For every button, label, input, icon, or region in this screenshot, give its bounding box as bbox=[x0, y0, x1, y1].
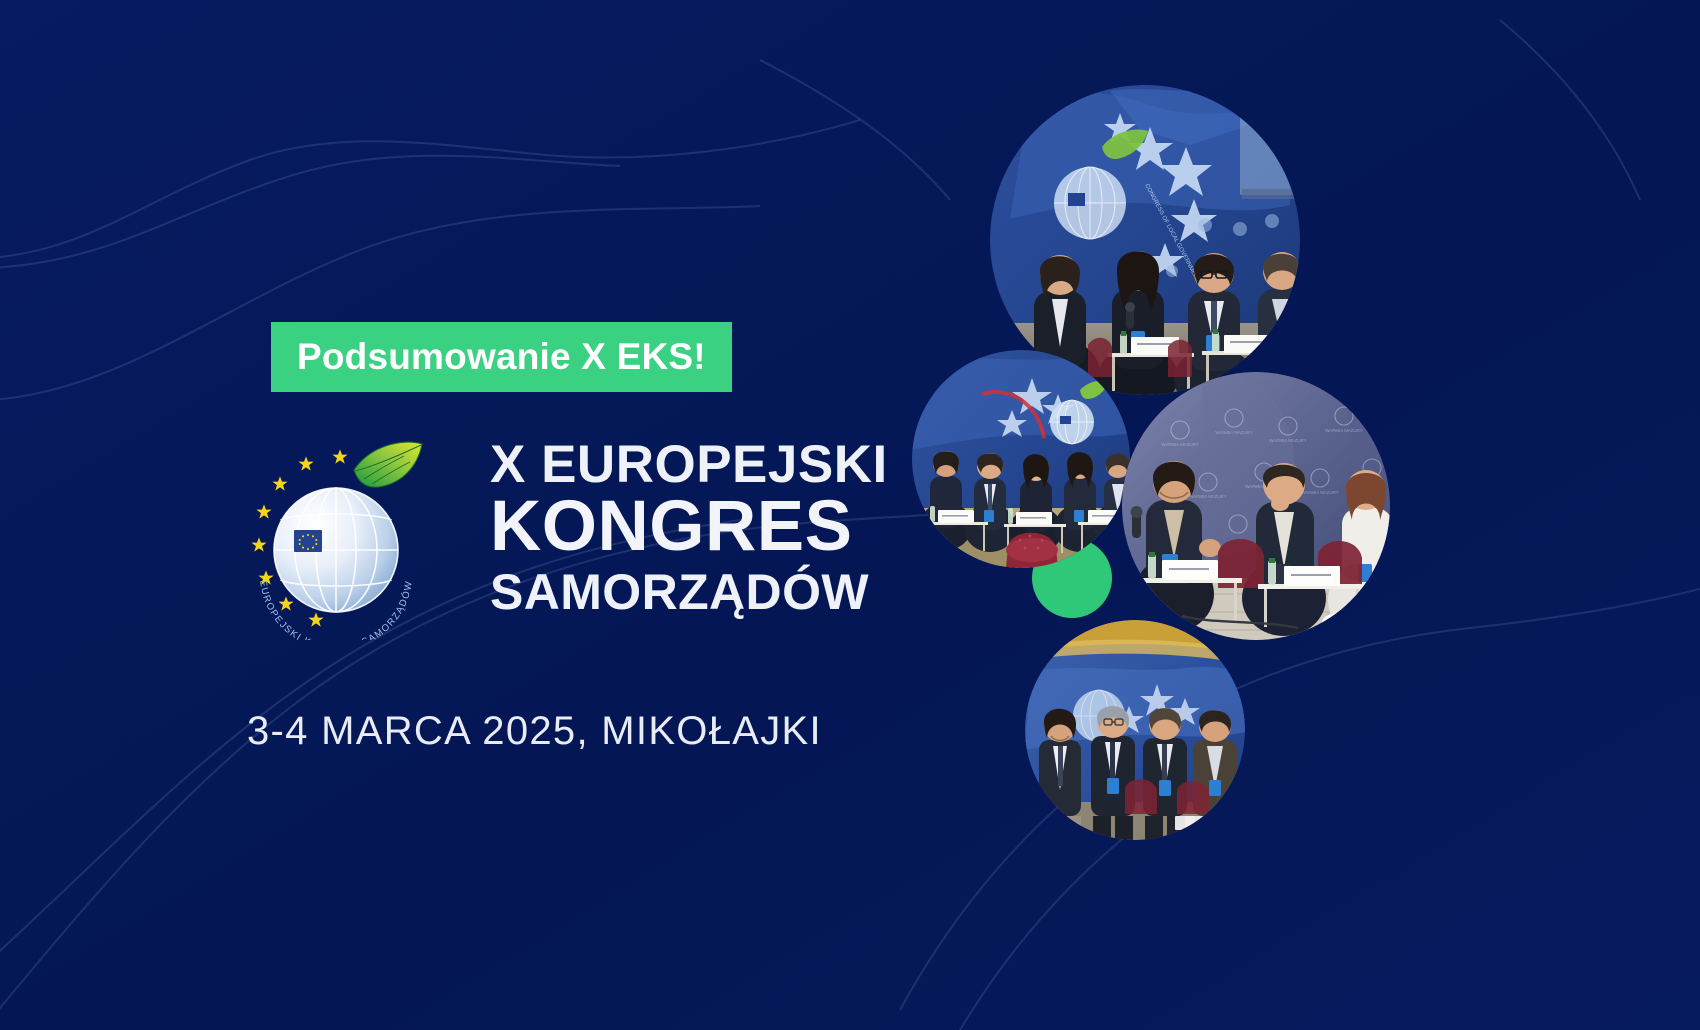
photo-panel-top: CONGRESS OF LOCAL GOVERNMENTS bbox=[990, 85, 1300, 395]
standing-person bbox=[1039, 709, 1081, 840]
photo-panel-right: WARMIA MAZURY WARMIA MAZURY WARMIA MAZUR… bbox=[1122, 372, 1390, 640]
promo-banner: Podsumowanie X EKS! bbox=[0, 0, 1700, 1030]
photo-panel-top-image: CONGRESS OF LOCAL GOVERNMENTS bbox=[990, 85, 1300, 395]
photo-group-bottom-image bbox=[1025, 620, 1245, 840]
summary-badge: Podsumowanie X EKS! bbox=[271, 322, 732, 392]
photo-panel-left-image bbox=[912, 350, 1130, 568]
event-date-location: 3-4 MARCA 2025, MIKOŁAJKI bbox=[247, 709, 822, 754]
green-leaf-icon bbox=[354, 442, 422, 487]
congress-logo: EUROPEJSKI KONGRES SAMORZĄDÓW bbox=[236, 432, 436, 640]
svg-text:WARMIA MAZURY: WARMIA MAZURY bbox=[1269, 438, 1306, 443]
svg-text:WARMIA MAZURY: WARMIA MAZURY bbox=[1189, 494, 1226, 499]
standing-person bbox=[1193, 710, 1237, 840]
svg-text:WARMIA MAZURY: WARMIA MAZURY bbox=[1161, 442, 1198, 447]
title-line-2: KONGRES bbox=[490, 493, 940, 562]
svg-text:WARMIA MAZURY: WARMIA MAZURY bbox=[1301, 490, 1338, 495]
summary-badge-label: Podsumowanie X EKS! bbox=[297, 338, 706, 375]
title-line-1: X EUROPEJSKI bbox=[490, 440, 940, 491]
left-content-column: Podsumowanie X EKS! bbox=[0, 0, 960, 1030]
photo-group-bottom bbox=[1025, 620, 1245, 840]
eu-flag-patch bbox=[294, 530, 322, 552]
photo-panel-left bbox=[912, 350, 1130, 568]
congress-logo-graphic: EUROPEJSKI KONGRES SAMORZĄDÓW bbox=[236, 432, 436, 640]
title-line-3: SAMORZĄDÓW bbox=[490, 567, 940, 617]
svg-text:WARMIA MAZURY: WARMIA MAZURY bbox=[1215, 430, 1252, 435]
globe-icon bbox=[274, 488, 398, 612]
photo-cluster: CONGRESS OF LOCAL GOVERNMENTS bbox=[880, 60, 1500, 960]
svg-text:WARMIA MAZURY: WARMIA MAZURY bbox=[1325, 428, 1362, 433]
page-title: X EUROPEJSKI KONGRES SAMORZĄDÓW bbox=[490, 440, 940, 617]
photo-panel-right-image: WARMIA MAZURY WARMIA MAZURY WARMIA MAZUR… bbox=[1122, 372, 1390, 640]
